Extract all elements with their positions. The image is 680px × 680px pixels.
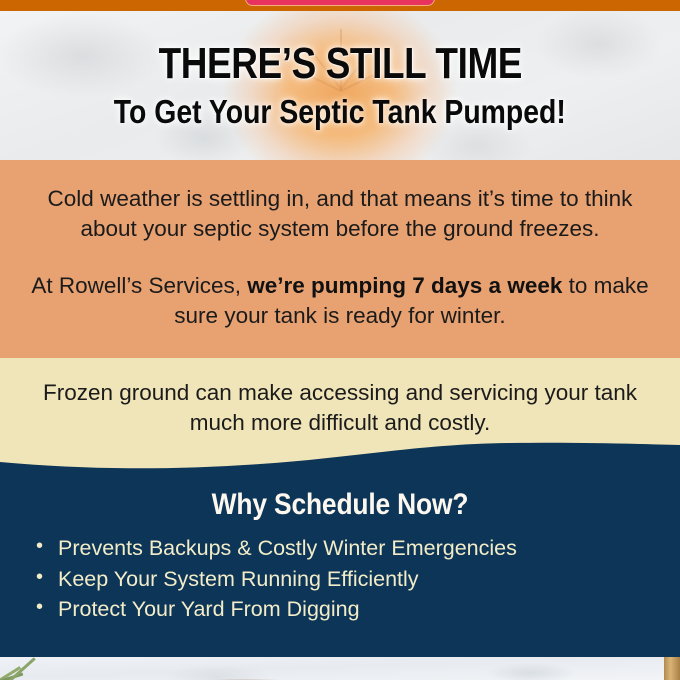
- flyer-root: THERE’S STILL TIME To Get Your Septic Ta…: [0, 0, 680, 680]
- why-schedule-title: Why Schedule Now?: [41, 488, 639, 522]
- navy-content-section: Why Schedule Now? Prevents Backups & Cos…: [0, 430, 680, 680]
- cream-paragraph: Frozen ground can make accessing and ser…: [0, 378, 680, 438]
- hero-subheadline: To Get Your Septic Tank Pumped!: [114, 95, 566, 130]
- top-pill-badge: [245, 0, 435, 6]
- list-item: Prevents Backups & Costly Winter Emergen…: [36, 533, 680, 564]
- hero-banner: THERE’S STILL TIME To Get Your Septic Ta…: [0, 11, 680, 160]
- orange-paragraph-2: At Rowell’s Services, we’re pumping 7 da…: [18, 271, 662, 331]
- wooden-post: [664, 657, 680, 680]
- hero-headline: THERE’S STILL TIME: [158, 42, 521, 86]
- bottom-snow-photo: [0, 657, 680, 680]
- brown-debris: [330, 674, 420, 680]
- brown-debris: [150, 670, 340, 680]
- paragraph-2-bold: we’re pumping 7 days a week: [247, 273, 562, 298]
- orange-paragraph-1: Cold weather is settling in, and that me…: [18, 184, 662, 244]
- paragraph-2-prefix: At Rowell’s Services,: [31, 273, 247, 298]
- orange-content-section: Cold weather is settling in, and that me…: [0, 160, 680, 358]
- list-item: Protect Your Yard From Digging: [36, 594, 680, 625]
- navy-inner: Why Schedule Now? Prevents Backups & Cos…: [0, 474, 680, 680]
- hero-text-group: THERE’S STILL TIME To Get Your Septic Ta…: [0, 11, 680, 160]
- list-item: Keep Your System Running Efficiently: [36, 564, 680, 595]
- benefits-list: Prevents Backups & Costly Winter Emergen…: [0, 533, 680, 625]
